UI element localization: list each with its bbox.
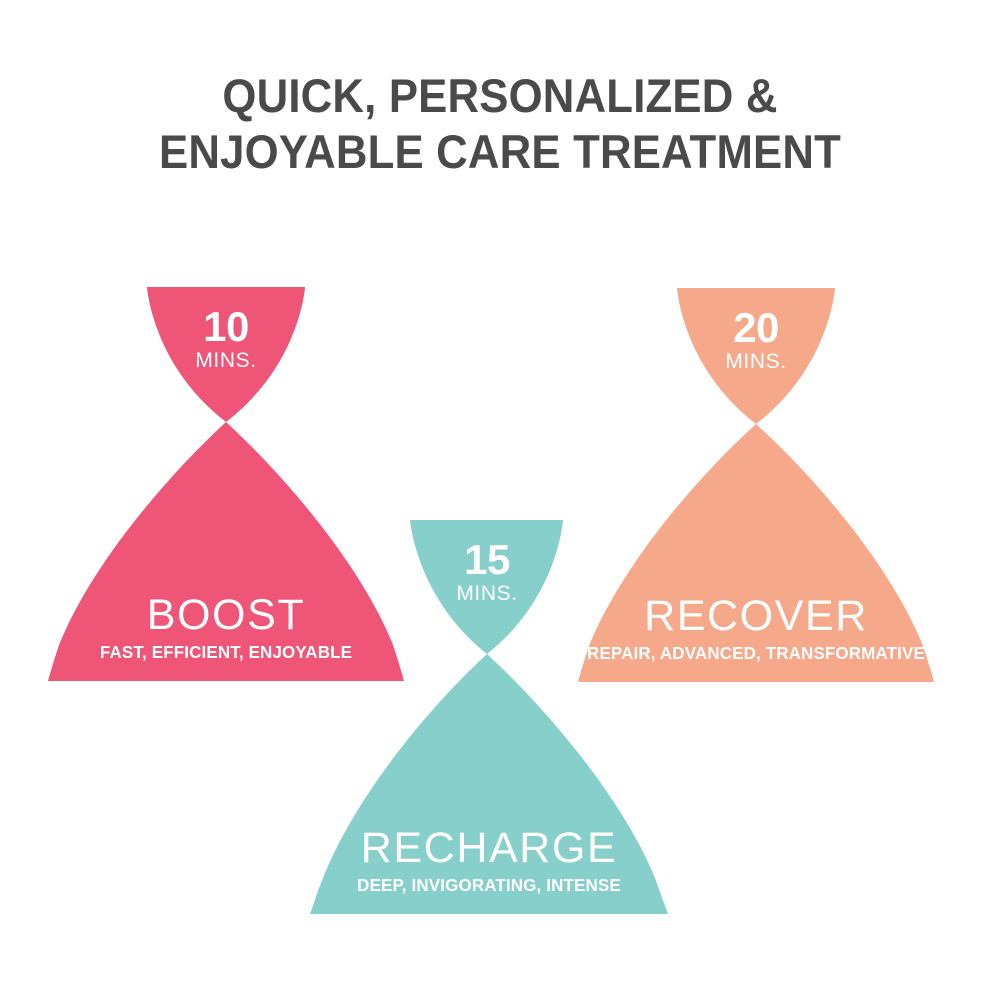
infographic-canvas: QUICK, PERSONALIZED & ENJOYABLE CARE TRE…	[0, 0, 1000, 1000]
hourglass-recharge-bottom-bowl	[310, 654, 668, 914]
title-line-2: ENJOYABLE CARE TREATMENT	[35, 124, 965, 180]
hourglass-recharge[interactable]	[310, 520, 668, 914]
hourglass-boost[interactable]	[48, 287, 404, 681]
hourglass-recover-bottom-bowl	[578, 424, 934, 682]
hourglass-recharge-top-cone	[410, 520, 563, 654]
hourglass-boost-bottom-bowl	[48, 422, 404, 681]
hourglass-recover-top-cone	[677, 288, 835, 424]
title-line-1: QUICK, PERSONALIZED &	[35, 68, 965, 124]
hourglass-boost-top-cone	[147, 287, 305, 422]
hourglass-recover[interactable]	[578, 288, 934, 682]
page-title: QUICK, PERSONALIZED & ENJOYABLE CARE TRE…	[0, 68, 1000, 180]
